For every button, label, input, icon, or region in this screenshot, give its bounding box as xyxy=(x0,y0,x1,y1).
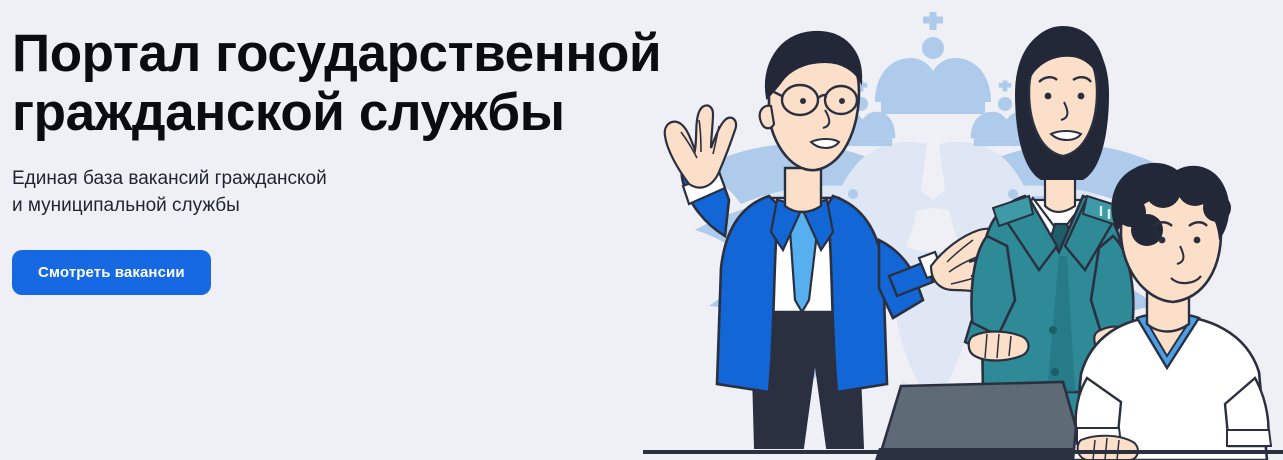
hero-banner: Портал государственной гражданской служб… xyxy=(0,0,1283,460)
laptop xyxy=(875,382,1093,460)
hero-illustration xyxy=(643,0,1283,460)
young-man-cuff-right xyxy=(1227,430,1271,446)
young-man-hair-curl-2 xyxy=(1116,197,1146,227)
view-vacancies-button[interactable]: Смотреть вакансии xyxy=(12,250,211,295)
man-eye-left xyxy=(800,98,806,104)
woman-hand-left xyxy=(969,332,1029,361)
young-man-eye-left xyxy=(1159,237,1166,244)
woman-eye-left xyxy=(1045,93,1052,100)
young-man-eye-right xyxy=(1194,237,1201,244)
hero-copy: Портал государственной гражданской служб… xyxy=(12,24,712,295)
man-eye-right xyxy=(839,98,845,104)
page-subtitle: Единая база вакансий гражданской и муниц… xyxy=(12,165,712,220)
woman-button-2 xyxy=(1051,368,1059,376)
woman-eye-right xyxy=(1078,93,1085,100)
young-man-hair-curl-3 xyxy=(1145,172,1181,208)
woman-button-1 xyxy=(1049,326,1057,334)
young-man-hair-curl-5 xyxy=(1203,194,1231,222)
page-title: Портал государственной гражданской служб… xyxy=(12,24,712,143)
young-man-hand-left xyxy=(1078,436,1138,460)
man-ear xyxy=(760,106,774,129)
man-neck xyxy=(785,168,821,212)
